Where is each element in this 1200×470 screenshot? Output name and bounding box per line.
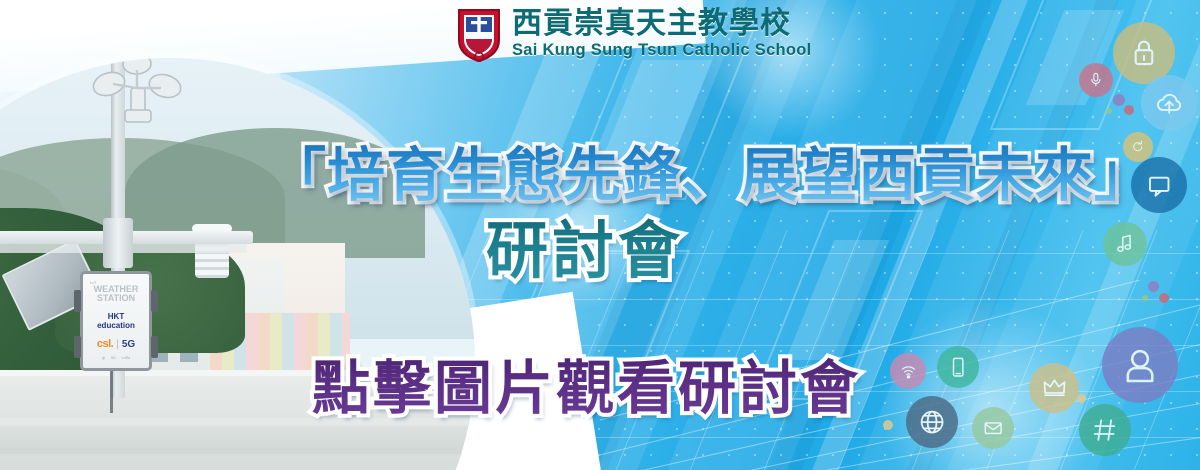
school-name-chinese: 西貢崇真天主教學校 xyxy=(512,9,812,39)
school-name-english: Sai Kung Sung Tsun Catholic School xyxy=(512,42,812,59)
partner-logo-c: LoRa xyxy=(122,356,130,360)
device-bracket xyxy=(74,290,81,312)
partner-logo-b: 5G xyxy=(111,356,116,360)
csl-logo: csl. xyxy=(97,338,113,350)
smartphone-icon xyxy=(937,346,979,388)
mast-collar xyxy=(103,218,133,268)
device-bracket xyxy=(151,290,158,312)
decorative-dot xyxy=(1077,394,1086,403)
device-brand-line1: HKT xyxy=(108,312,124,321)
school-name-block: 西貢崇真天主教學校 Sai Kung Sung Tsun Catholic Sc… xyxy=(512,9,812,59)
crown-icon xyxy=(1029,363,1079,413)
decorative-dot xyxy=(1142,295,1148,301)
headline-secondary: 研討會 xyxy=(486,200,684,290)
music-note-icon xyxy=(1103,222,1147,266)
school-logo-header: 西貢崇真天主教學校 Sai Kung Sung Tsun Catholic Sc… xyxy=(455,6,812,62)
decorative-dot xyxy=(1124,105,1134,115)
anemometer-icon xyxy=(61,58,221,170)
globe-icon xyxy=(906,396,958,448)
device-cable xyxy=(110,371,113,413)
school-crest-shield-icon xyxy=(455,6,503,62)
decorative-dot xyxy=(883,420,893,430)
device-brand-line2: education xyxy=(97,321,135,330)
device-partner-logos: ◍ 5G LoRa xyxy=(102,356,130,360)
iot-weather-station-device: IoT WEATHER STATION HKT education csl. |… xyxy=(80,271,152,371)
hashtag-icon xyxy=(1079,404,1131,456)
decorative-dot xyxy=(1113,94,1125,106)
logo-separator: | xyxy=(116,339,119,350)
rooftop-floor xyxy=(0,454,475,470)
seminar-promo-banner: IoT WEATHER STATION HKT education csl. |… xyxy=(0,0,1200,470)
envelope-icon xyxy=(972,407,1014,449)
device-bracket xyxy=(74,336,81,358)
device-logo-row: csl. | 5G xyxy=(97,338,135,350)
user-icon xyxy=(1102,327,1178,403)
cloud-upload-icon xyxy=(1141,75,1197,131)
fiveg-logo: 5G xyxy=(122,339,135,350)
device-bracket xyxy=(151,336,158,358)
decorative-dot xyxy=(1159,293,1169,303)
decorative-dot xyxy=(1106,108,1112,114)
cta-watch-seminar-link[interactable]: 點擊圖片觀看研討會 xyxy=(312,341,861,425)
decorative-dot xyxy=(1148,281,1159,292)
microphone-icon xyxy=(1079,63,1113,97)
partner-logo-a: ◍ xyxy=(102,356,105,360)
wifi-icon xyxy=(890,353,926,389)
device-title-line2: STATION xyxy=(97,294,135,303)
headline-primary: 「培育生態先鋒、展望西貢未來」 xyxy=(268,128,1153,212)
